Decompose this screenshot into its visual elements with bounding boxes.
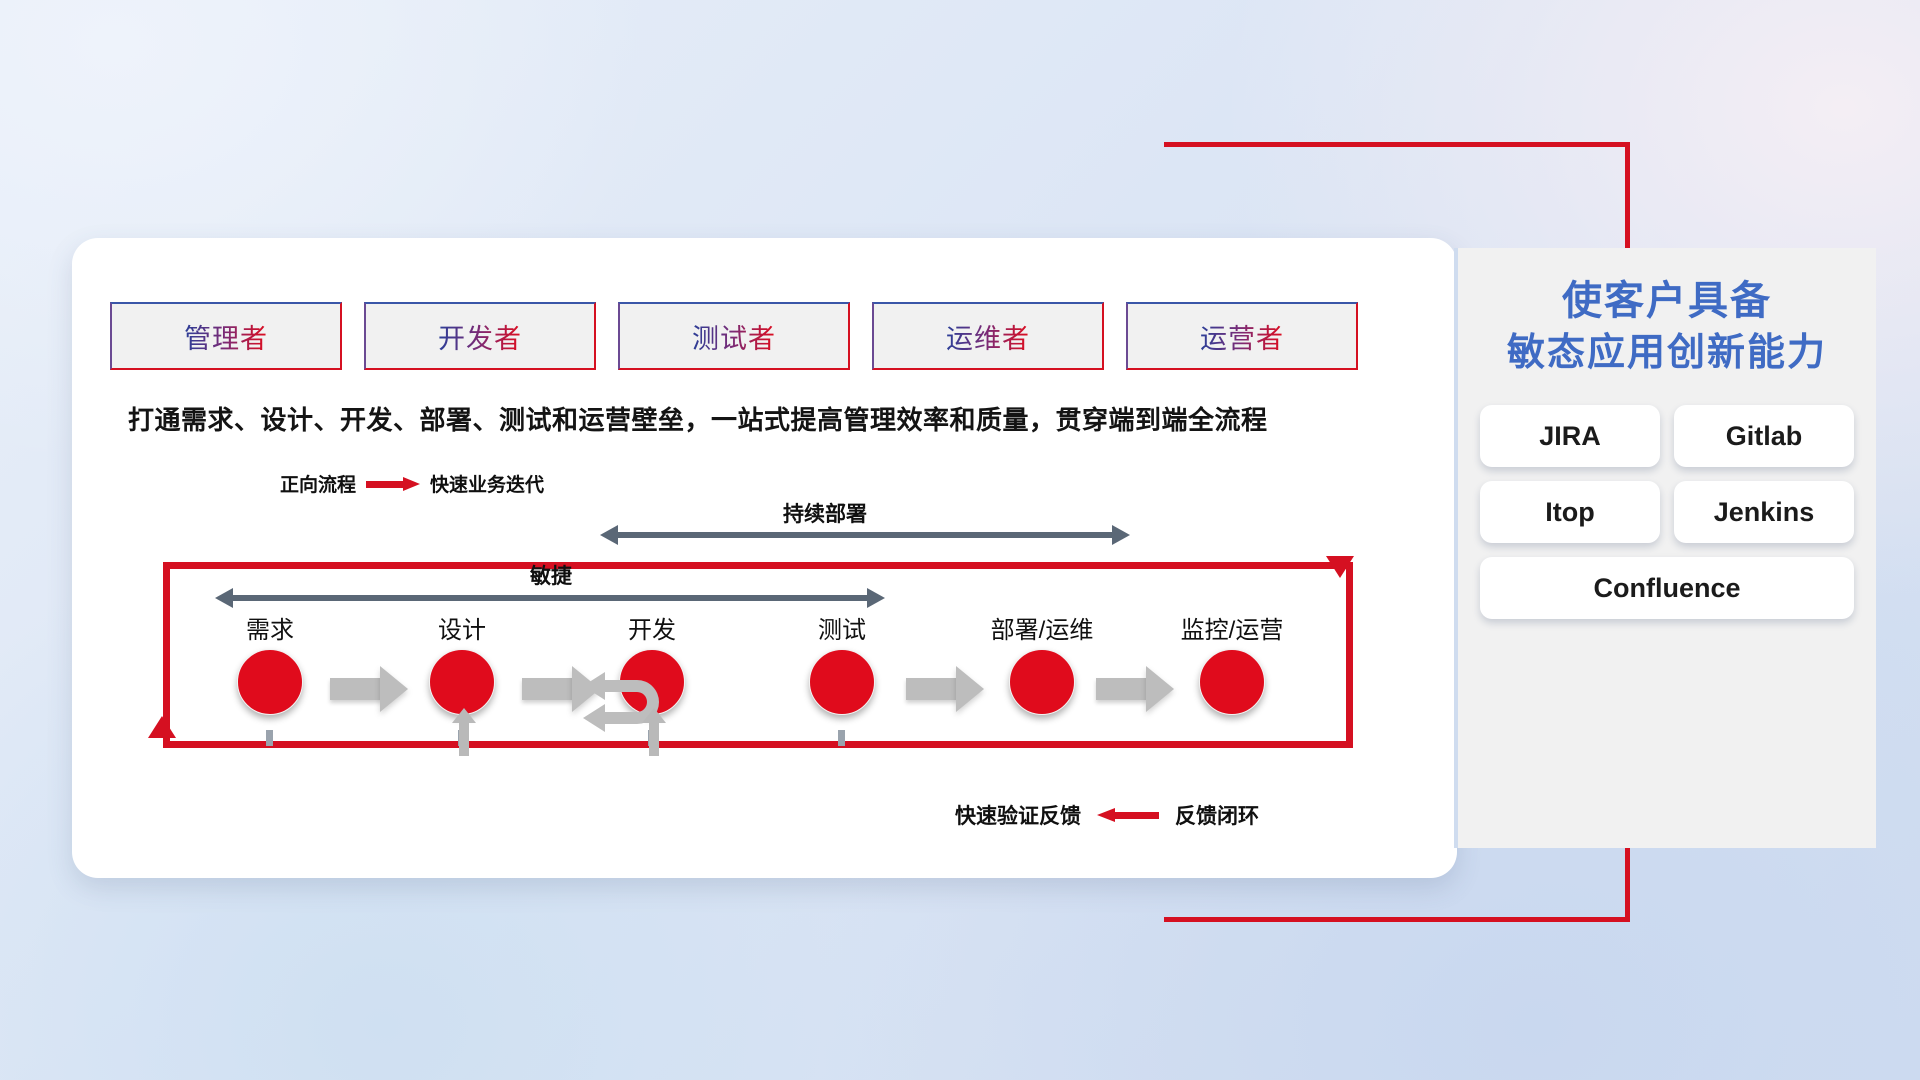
description-text: 打通需求、设计、开发、部署、测试和运营壁垒，一站式提高管理效率和质量，贯穿端到端… (128, 400, 1448, 437)
role-box-developer[interactable]: 开发者 (364, 302, 596, 370)
tool-item-jenkins[interactable]: Jenkins (1674, 481, 1854, 543)
pipeline-node-monitor-operations[interactable]: 监控/运营 (1152, 610, 1312, 715)
legend-forward-to-label: 快速业务迭代 (430, 470, 544, 497)
loop-arrow-down-icon (1326, 556, 1354, 578)
pipeline-node-dot (1199, 649, 1265, 715)
legend-forward-flow: 正向流程 快速业务迭代 (280, 470, 544, 497)
node-stem (838, 730, 845, 746)
legend-feedback-loop: 快速验证反馈 反馈闭环 (955, 800, 1259, 830)
right-panel-title: 使客户具备 敏态应用创新能力 (1458, 248, 1876, 379)
legend-forward-from-label: 正向流程 (280, 470, 356, 497)
pipeline-node-dot (809, 649, 875, 715)
roles-row: 管理者 开发者 测试者 运维者 运营者 (110, 302, 1358, 370)
pipeline: 需求 设计 开发 测试 (120, 610, 1380, 750)
tool-item-gitlab[interactable]: Gitlab (1674, 405, 1854, 467)
role-label: 开发者 (438, 317, 522, 356)
feedback-tick-icon (649, 722, 659, 756)
role-box-manager[interactable]: 管理者 (110, 302, 342, 370)
role-box-ops[interactable]: 运维者 (872, 302, 1104, 370)
pipeline-node-design[interactable]: 设计 (412, 610, 512, 715)
arrow-right-red-icon (366, 477, 420, 491)
role-label: 管理者 (184, 317, 268, 356)
span-label-continuous-deployment: 持续部署 (783, 498, 867, 528)
node-stem (266, 730, 273, 746)
pipeline-node-dot (1009, 649, 1075, 715)
arrow-left-red-icon (1097, 808, 1159, 822)
pipeline-node-test[interactable]: 测试 (792, 610, 892, 715)
right-panel-title-line2: 敏态应用创新能力 (1458, 328, 1876, 379)
loop-frame-stub-bottom (1164, 917, 1170, 922)
role-box-tester[interactable]: 测试者 (618, 302, 850, 370)
pipeline-node-dot (237, 649, 303, 715)
slide-canvas: 管理者 开发者 测试者 运维者 运营者 打通需求、设计、开发、部署、测试和运营壁… (0, 0, 1920, 1080)
double-arrow-agile-icon (215, 588, 885, 608)
pipeline-node-label: 需求 (220, 610, 320, 645)
pipeline-node-label: 部署/运维 (962, 610, 1122, 645)
double-arrow-continuous-deployment-icon (600, 525, 1130, 545)
tool-item-jira[interactable]: JIRA (1480, 405, 1660, 467)
tool-item-itop[interactable]: Itop (1480, 481, 1660, 543)
iteration-loop-arrow-icon (575, 672, 675, 736)
pipeline-node-dot (429, 649, 495, 715)
role-box-operations[interactable]: 运营者 (1126, 302, 1358, 370)
pipeline-node-label: 设计 (412, 610, 512, 645)
span-label-agile: 敏捷 (530, 560, 572, 590)
pipeline-node-requirement[interactable]: 需求 (220, 610, 320, 715)
pipeline-node-label: 测试 (792, 610, 892, 645)
tools-list: JIRA Gitlab Itop Jenkins Confluence (1458, 405, 1876, 619)
step-arrow-right-icon (330, 666, 408, 712)
tool-item-confluence[interactable]: Confluence (1480, 557, 1854, 619)
pipeline-node-label: 监控/运营 (1152, 610, 1312, 645)
pipeline-node-label: 开发 (602, 610, 702, 645)
role-label: 测试者 (692, 317, 776, 356)
legend-feedback-from-label: 反馈闭环 (1175, 800, 1259, 830)
right-panel-title-line1: 使客户具备 (1458, 274, 1876, 328)
feedback-tick-icon (459, 722, 469, 756)
role-label: 运营者 (1200, 317, 1284, 356)
legend-feedback-to-label: 快速验证反馈 (955, 800, 1081, 830)
right-panel: 使客户具备 敏态应用创新能力 JIRA Gitlab Itop Jenkins … (1458, 248, 1876, 848)
role-label: 运维者 (946, 317, 1030, 356)
